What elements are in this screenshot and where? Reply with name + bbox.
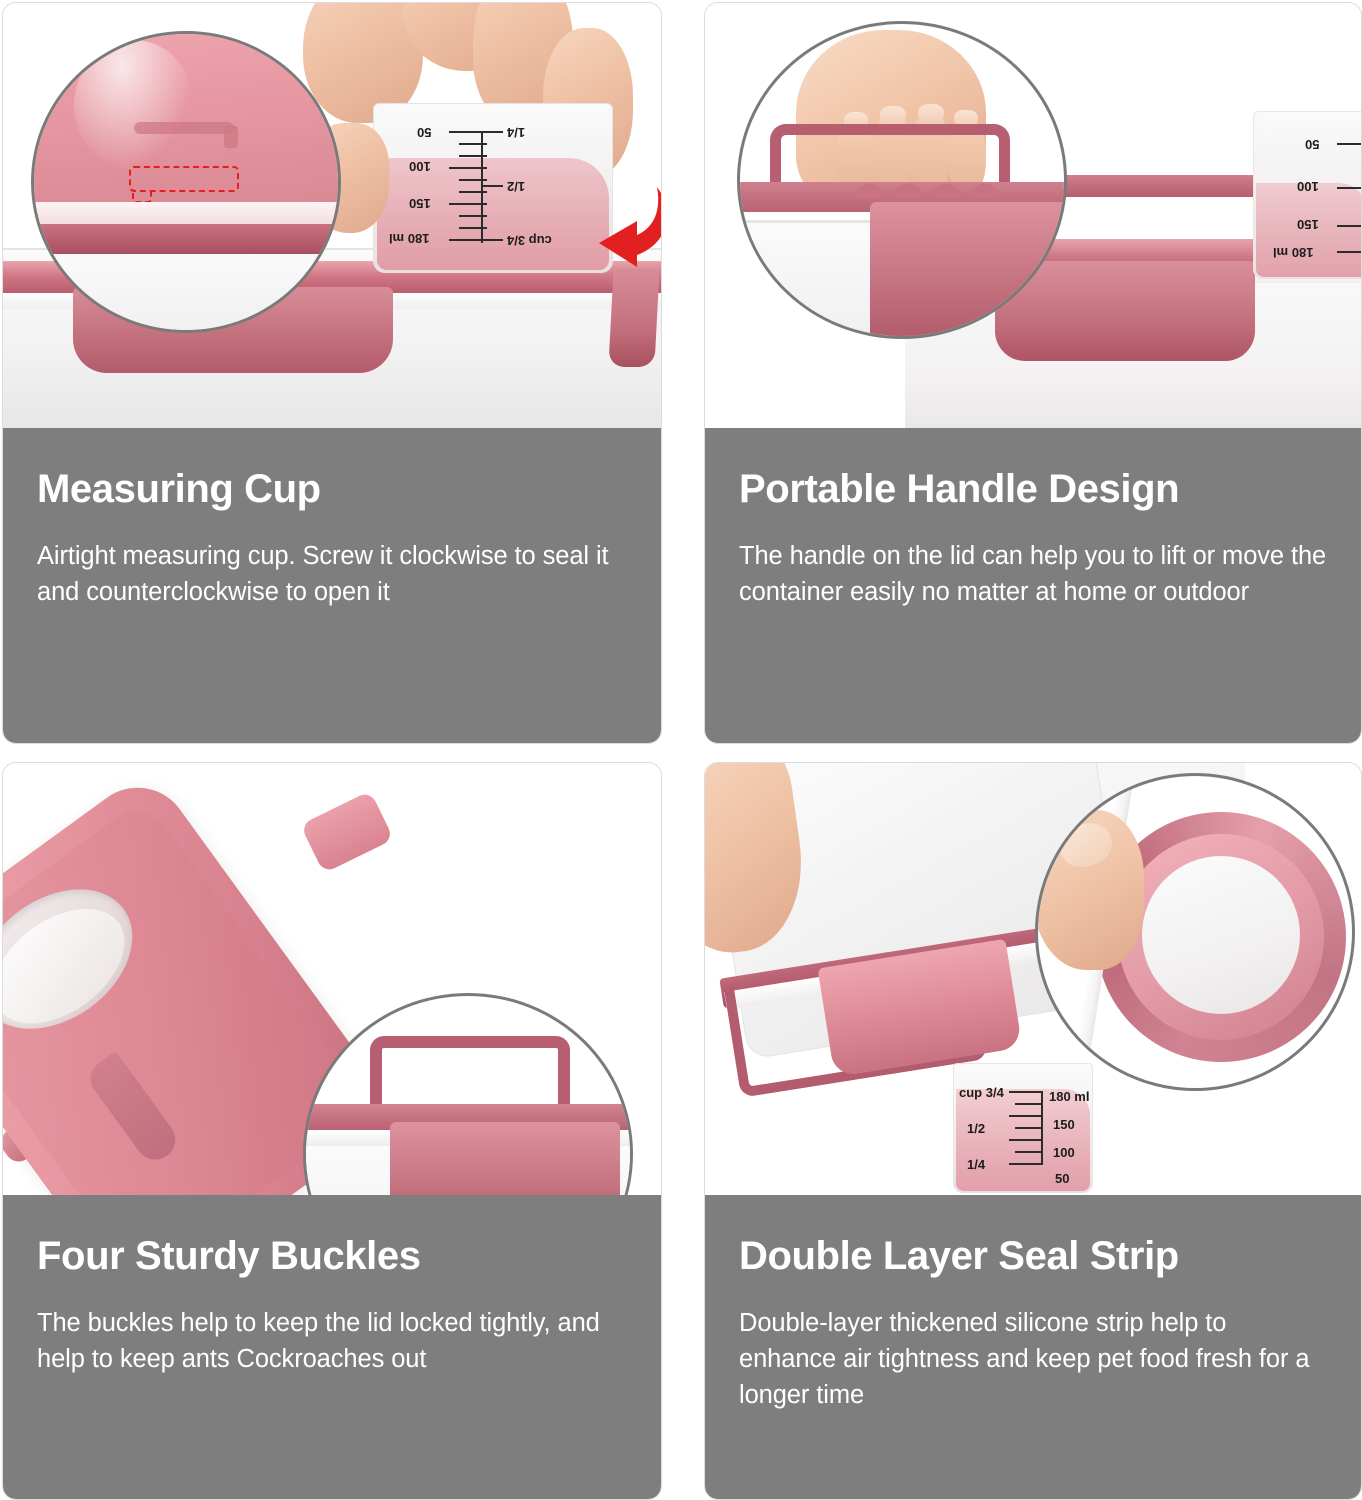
container-body-zoom bbox=[31, 254, 341, 333]
product-photo-seal-strip: cup 3/4 1/2 1/4 180 ml 150 100 50 bbox=[705, 763, 1361, 1195]
product-photo-buckles bbox=[3, 763, 661, 1195]
buckle-zoom bbox=[870, 202, 1067, 339]
panel-title: Double Layer Seal Strip bbox=[739, 1235, 1327, 1277]
carry-handle-zoom bbox=[370, 1036, 570, 1112]
measuring-cup-scale: 50 100 150 180 ml 1/4 1/2 cup 3/4 bbox=[373, 103, 613, 273]
caption-four-sturdy-buckles: Four Sturdy Buckles The buckles help to … bbox=[3, 1195, 661, 1499]
cup-mark-half: 1/2 bbox=[967, 1121, 985, 1136]
cup-mark-50: 50 bbox=[1055, 1171, 1069, 1186]
cup-mark-100: 100 bbox=[1297, 179, 1319, 194]
cup-mark-50: 50 bbox=[1305, 137, 1319, 152]
cup-mark-180ml: 180 ml bbox=[389, 231, 429, 246]
lid-rib-stub bbox=[224, 126, 238, 148]
cup-mark-half: 1/2 bbox=[507, 179, 525, 194]
measuring-cup-scale: 50 100 150 180 ml bbox=[1253, 111, 1361, 279]
measuring-cup-scale: cup 3/4 1/2 1/4 180 ml 150 100 50 bbox=[953, 1063, 1093, 1193]
feature-panel-double-layer-seal-strip: cup 3/4 1/2 1/4 180 ml 150 100 50 Double… bbox=[704, 762, 1362, 1500]
panel-body: The handle on the lid can help you to li… bbox=[739, 538, 1327, 610]
panel-title: Measuring Cup bbox=[37, 468, 627, 510]
panel-body: The buckles help to keep the lid locked … bbox=[37, 1305, 627, 1377]
cup-mark-150: 150 bbox=[1297, 217, 1319, 232]
cup-mark-150: 150 bbox=[1053, 1117, 1075, 1132]
feature-panel-measuring-cup: 50 100 150 180 ml 1/4 1/2 cup 3/4 bbox=[2, 2, 662, 744]
fingernail bbox=[918, 104, 944, 124]
lid-rib bbox=[134, 122, 234, 134]
cup-mark-100: 100 bbox=[1053, 1145, 1075, 1160]
fingernail bbox=[880, 106, 906, 126]
product-photo-portable-handle: 50 100 150 180 ml bbox=[705, 3, 1361, 428]
magnifier-callout-closed-buckle bbox=[303, 993, 633, 1195]
cup-mark-quarter: 1/4 bbox=[507, 125, 525, 140]
seal-band-zoom bbox=[31, 202, 341, 224]
panel-title: Portable Handle Design bbox=[739, 468, 1327, 510]
caption-measuring-cup: Measuring Cup Airtight measuring cup. Sc… bbox=[3, 428, 661, 743]
magnifier-callout-seal-strip bbox=[1035, 773, 1355, 1091]
rotation-arrow-icon bbox=[591, 181, 661, 273]
container-body-zoom bbox=[737, 220, 890, 339]
magnifier-callout-lid-tab bbox=[31, 31, 341, 333]
caption-double-layer-seal-strip: Double Layer Seal Strip Double-layer thi… bbox=[705, 1195, 1361, 1499]
product-photo-measuring-cup: 50 100 150 180 ml 1/4 1/2 cup 3/4 bbox=[3, 3, 661, 428]
cup-mark-180ml: 180 ml bbox=[1049, 1089, 1089, 1104]
cup-mark-150: 150 bbox=[409, 196, 431, 211]
lid-band-zoom bbox=[31, 224, 341, 254]
panel-body: Airtight measuring cup. Screw it clockwi… bbox=[37, 538, 627, 610]
magnifier-callout-handle-grip bbox=[737, 21, 1067, 339]
cup-mark-50: 50 bbox=[417, 125, 431, 140]
panel-body: Double-layer thickened silicone strip he… bbox=[739, 1305, 1327, 1414]
buckle-tab-top bbox=[300, 791, 394, 874]
buckle-zoom bbox=[390, 1122, 620, 1195]
feature-grid: 50 100 150 180 ml 1/4 1/2 cup 3/4 bbox=[0, 0, 1362, 1500]
cup-mark-threequarter: cup 3/4 bbox=[959, 1085, 1004, 1100]
cup-mark-threequarter: cup 3/4 bbox=[507, 233, 552, 248]
feature-panel-four-sturdy-buckles: Four Sturdy Buckles The buckles help to … bbox=[2, 762, 662, 1500]
locking-tab-highlight-stem-icon bbox=[132, 189, 152, 203]
cup-mark-180ml: 180 ml bbox=[1273, 245, 1313, 260]
cup-mark-quarter: 1/4 bbox=[967, 1157, 985, 1172]
caption-portable-handle: Portable Handle Design The handle on the… bbox=[705, 428, 1361, 743]
panel-title: Four Sturdy Buckles bbox=[37, 1235, 627, 1277]
lid-highlight bbox=[74, 40, 194, 170]
lid-interior bbox=[1142, 856, 1300, 1014]
lid-scallop-detail bbox=[850, 176, 1010, 198]
cup-mark-100: 100 bbox=[409, 159, 431, 174]
buckle-side bbox=[608, 269, 659, 367]
feature-panel-portable-handle: 50 100 150 180 ml bbox=[704, 2, 1362, 744]
